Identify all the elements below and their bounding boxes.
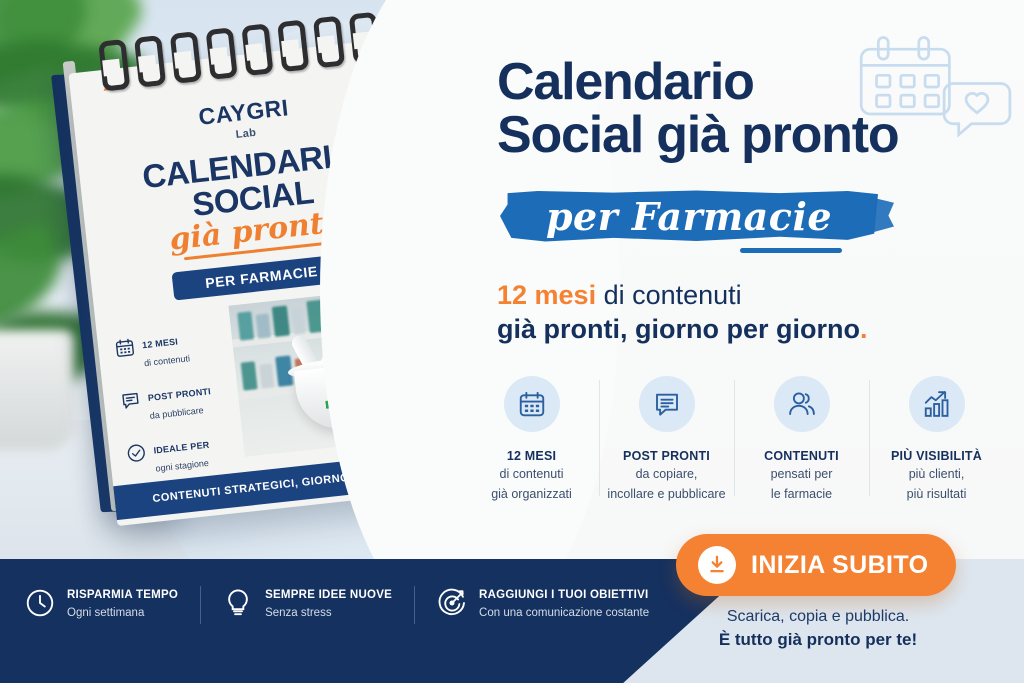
feature-title: PIÙ VISIBILITÀ — [873, 449, 1000, 463]
feature-desc-line-2: incollare e pubblicare — [603, 486, 730, 503]
feature-desc-line-2: le farmacie — [738, 486, 865, 503]
bottom-feature-sempre-idee-nuove: SEMPRE IDEE NUOVE Senza stress — [200, 585, 414, 621]
feature-item-piu-visibilita: PIÙ VISIBILITÀ più clienti, più risultat… — [869, 376, 1004, 502]
bottom-feature-title: SEMPRE IDEE NUOVE — [265, 589, 392, 601]
calendar-feature-item: 12 MESI di contenuti — [113, 325, 244, 375]
headline-line-2: Social già pronto — [497, 109, 898, 162]
cta-note-line-1: Scarica, copia e pubblica. — [676, 608, 960, 626]
bottom-feature-risparmia-tempo: RISPARMIA TEMPO Ogni settimana — [24, 585, 200, 621]
calendar-feature-title: POST PRONTI — [147, 386, 211, 403]
feature-desc-line-1: di contenuti — [468, 466, 595, 483]
feature-desc-line-2: più risultati — [873, 486, 1000, 503]
calendar-feature-title: 12 MESI — [142, 336, 179, 350]
page-title: Calendario Social già pronto — [497, 56, 898, 162]
cta-button[interactable]: INIZIA SUBITO — [676, 534, 956, 596]
download-icon — [698, 546, 736, 584]
headline-line-1: Calendario — [497, 56, 898, 109]
feature-desc-line-2: già organizzati — [468, 486, 595, 503]
subheadline: 12 mesi di contenuti già pronti, giorno … — [497, 278, 868, 346]
bottom-feature-raggiungi-obiettivi: RAGGIUNGI I TUOI OBIETTIVI Con una comun… — [414, 585, 671, 621]
lightbulb-icon — [222, 587, 254, 619]
calendar-icon — [504, 376, 560, 432]
bottom-feature-desc: Senza stress — [265, 607, 331, 619]
feature-title: CONTENUTI — [738, 449, 865, 463]
target-icon — [436, 587, 468, 619]
cta-label: INIZIA SUBITO — [751, 551, 928, 580]
calendar-feature-item: POST PRONTI da pubblicare — [119, 377, 250, 427]
chat-bubble-icon — [119, 389, 142, 412]
banner-root: CAYGRI Lab CALENDARIO SOCIAL già pronto … — [0, 0, 1024, 683]
feature-item-post-pronti: POST PRONTI da copiare, incollare e pubb… — [599, 376, 734, 502]
subheadline-line-1: 12 mesi di contenuti — [497, 278, 868, 312]
check-circle-icon — [125, 442, 148, 465]
feature-desc-line-1: pensati per — [738, 466, 865, 483]
subheadline-bold: già pronti, giorno per giorno — [497, 314, 860, 344]
feature-title: 12 MESI — [468, 449, 595, 463]
cta-note-line-2: È tutto già pronto per te! — [676, 630, 960, 650]
calendar-feature-desc: di contenuti — [144, 353, 191, 368]
feature-title: POST PRONTI — [603, 449, 730, 463]
calendar-feature-title: IDEALE PER — [153, 440, 210, 456]
growth-chart-icon — [909, 376, 965, 432]
chat-bubble-icon — [639, 376, 695, 432]
bottom-feature-list: RISPARMIA TEMPO Ogni settimana SEMPRE ID… — [24, 585, 644, 621]
feature-desc-line-1: più clienti, — [873, 466, 1000, 483]
brush-underline — [740, 248, 842, 253]
calendar-icon — [113, 336, 136, 359]
bottom-feature-desc: Con una comunicazione costante — [479, 607, 649, 619]
feature-desc-line-1: da copiare, — [603, 466, 730, 483]
subheadline-rest: di contenuti — [596, 280, 742, 310]
bottom-feature-title: RISPARMIA TEMPO — [67, 589, 178, 601]
calendar-feature-desc: ogni stagione — [155, 458, 209, 474]
content-panel: Calendario Social già pronto per Farmaci… — [440, 0, 1024, 559]
cta-note: Scarica, copia e pubblica. È tutto già p… — [676, 608, 960, 650]
feature-item-contenuti: CONTENUTI pensati per le farmacie — [734, 376, 869, 502]
chat-heart-icon — [940, 78, 1014, 142]
subheadline-line-2: già pronti, giorno per giorno. — [497, 312, 868, 346]
bottom-feature-title: RAGGIUNGI I TUOI OBIETTIVI — [479, 589, 648, 601]
bottom-feature-desc: Ogni settimana — [67, 607, 144, 619]
calendar-feature-desc: da pubblicare — [149, 405, 204, 421]
users-icon — [774, 376, 830, 432]
feature-list: 12 MESI di contenuti già organizzati POS… — [464, 376, 1004, 502]
clock-icon — [24, 587, 56, 619]
subheadline-period: . — [860, 314, 868, 344]
brush-label: per Farmacie — [500, 188, 878, 244]
feature-item-12-mesi: 12 MESI di contenuti già organizzati — [464, 376, 599, 502]
subheadline-highlight: 12 mesi — [497, 280, 596, 310]
